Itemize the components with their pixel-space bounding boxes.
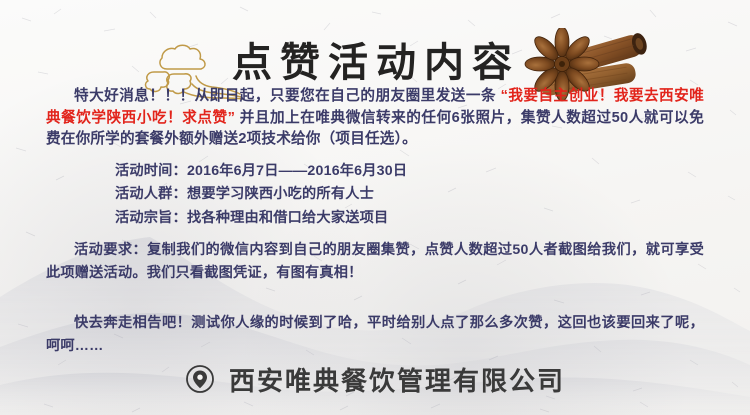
location-pin-icon: [185, 364, 215, 394]
company-name: 西安唯典餐饮管理有限公司: [229, 361, 565, 398]
list-item: 活动人群：想要学习陕西小吃的所有人士: [115, 183, 750, 207]
poster-body: 特大好消息！！！从即日起，只要您在自己的朋友圈里发送一条 “我要自主创业！我要去…: [0, 86, 750, 357]
list-item: 活动时间：2016年6月7日——2016年6月30日: [115, 160, 750, 184]
poster-footer: 西安唯典餐饮管理有限公司: [0, 357, 750, 401]
requirement-paragraph: 活动要求：复制我们的微信内容到自己的朋友圈集赞，点赞人数超过50人者截图给我们，…: [46, 239, 704, 284]
outro-paragraph: 快去奔走相告吧！测试你人缘的时候到了哈，平时给别人点了那么多次赞，这回也该要回来…: [46, 312, 704, 357]
list-item: 活动宗旨：找各种理由和借口给大家送项目: [115, 207, 750, 231]
page-title: 点赞活动内容: [232, 32, 522, 94]
activity-meta-list: 活动时间：2016年6月7日——2016年6月30日 活动人群：想要学习陕西小吃…: [0, 160, 750, 231]
poster-header: 点赞活动内容: [0, 14, 750, 86]
lead-paragraph: 特大好消息！！！从即日起，只要您在自己的朋友圈里发送一条 “我要自主创业！我要去…: [46, 86, 704, 151]
lead-part1: 特大好消息！！！从即日起，只要您在自己的朋友圈里发送一条: [74, 88, 501, 104]
poster-canvas: 点赞活动内容: [0, 0, 750, 415]
